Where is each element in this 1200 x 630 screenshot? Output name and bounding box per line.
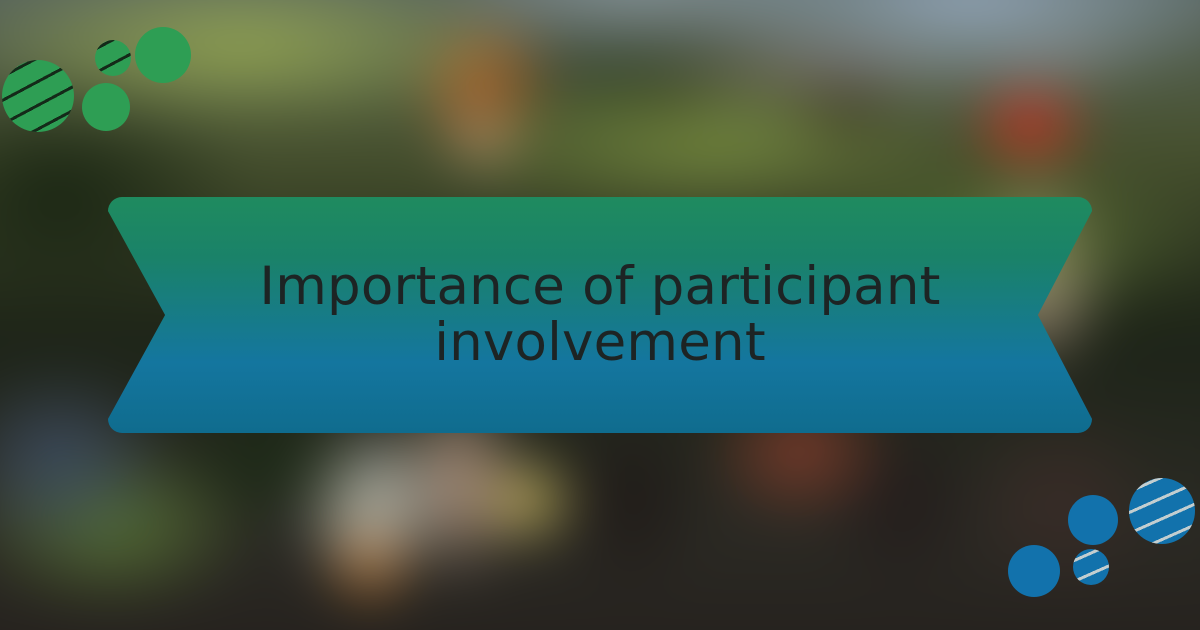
deco-circle-green-medium (82, 83, 130, 131)
page-title: Importance of participant involvement (240, 259, 960, 370)
deco-circle-blue-medium (1068, 495, 1118, 545)
deco-circle-blue-small-striped (1073, 549, 1109, 585)
deco-circle-green-large-striped (2, 60, 74, 132)
ribbon-banner: Importance of participant involvement (108, 197, 1092, 433)
deco-circle-blue-lower (1008, 545, 1060, 597)
deco-circle-green-large (135, 27, 191, 83)
deco-circle-blue-large-striped (1129, 478, 1195, 544)
deco-circle-green-small-striped (95, 40, 131, 76)
poster-canvas: Importance of participant involvement (0, 0, 1200, 630)
